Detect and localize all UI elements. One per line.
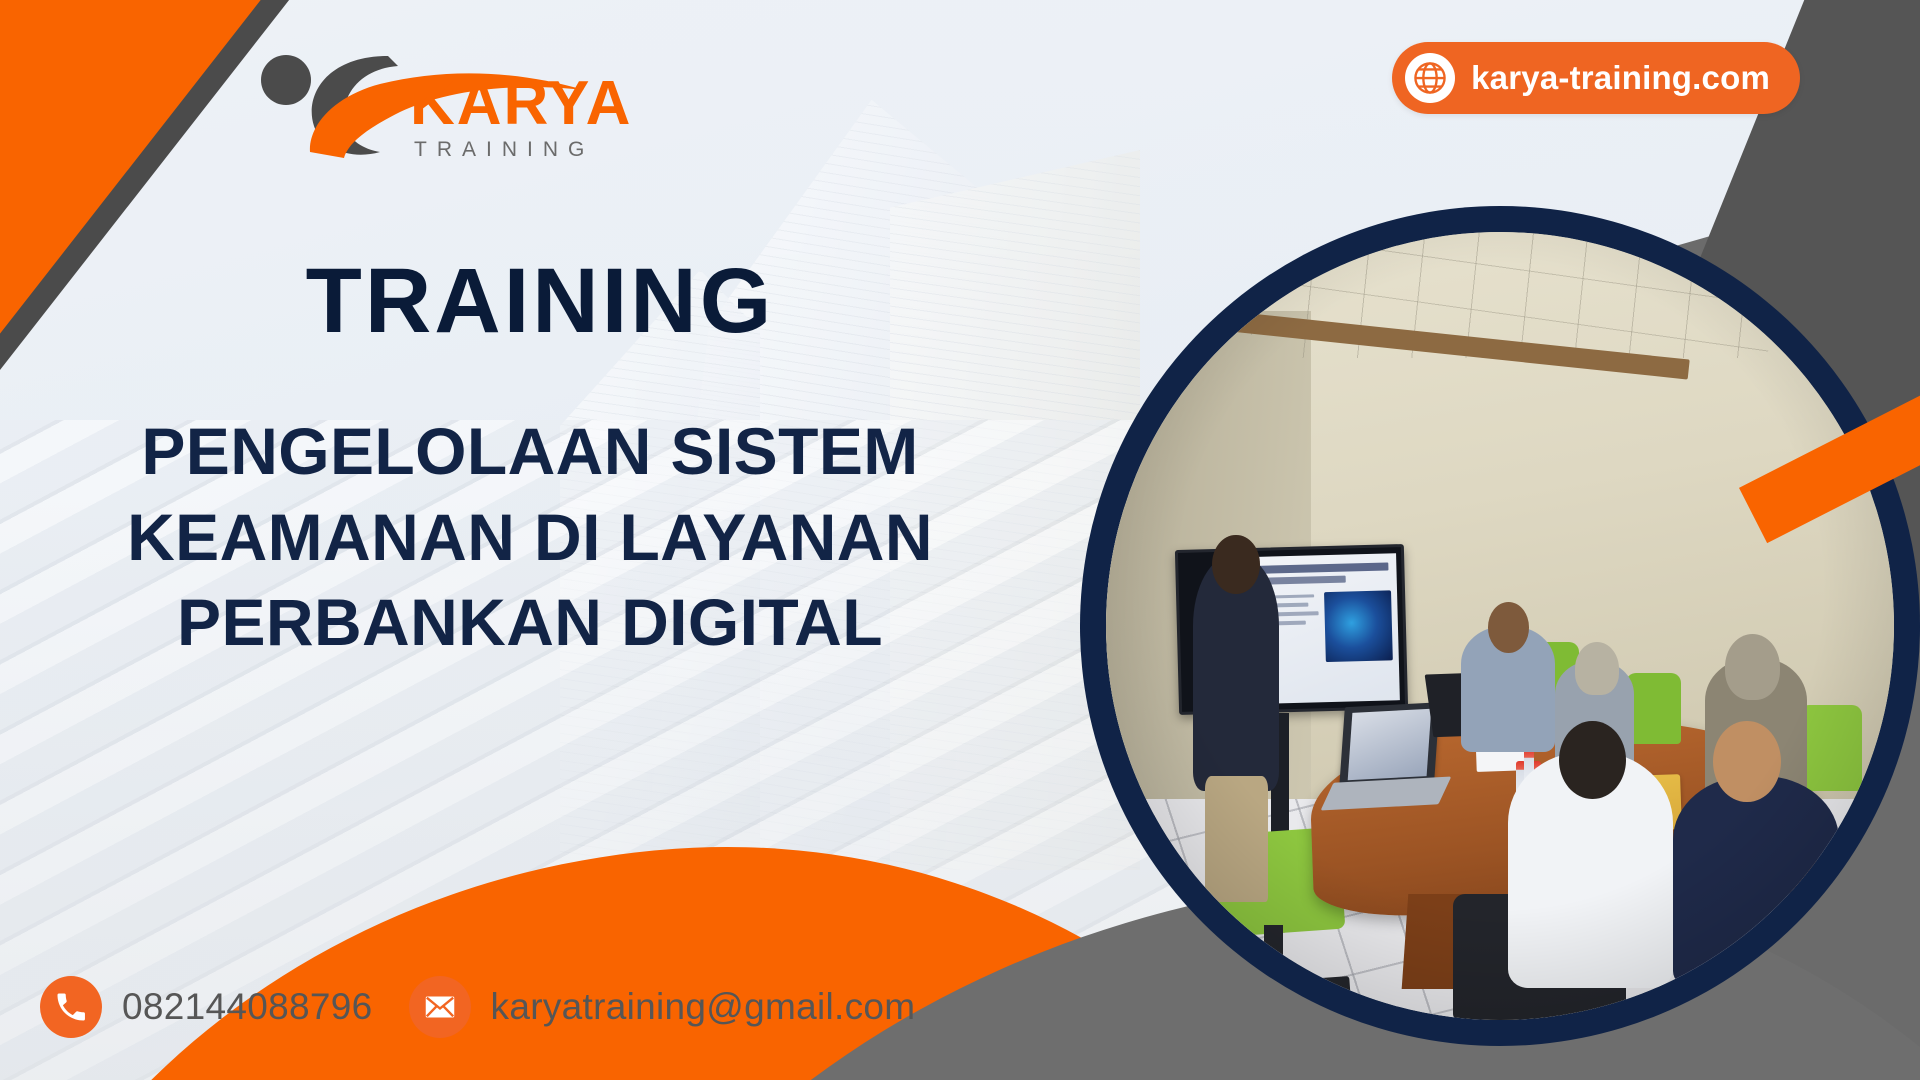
- contact-email[interactable]: karyatraining@gmail.com: [409, 976, 916, 1038]
- page-title-kicker: TRAINING: [0, 255, 1060, 349]
- poster-canvas: KARYA TRAINING karya-training.com TRAINI…: [0, 0, 1920, 1080]
- phone-icon: [40, 976, 102, 1038]
- mail-icon: [409, 976, 471, 1038]
- subtitle-line-3: PERBANKAN DIGITAL: [40, 580, 1020, 666]
- training-session-photo: [1106, 232, 1894, 1020]
- website-badge[interactable]: karya-training.com: [1392, 42, 1800, 114]
- meeting-room-scene: [1106, 232, 1894, 1020]
- logo-subwordmark: TRAINING: [414, 138, 594, 161]
- contact-bar: 082144088796 karyatraining@gmail.com: [40, 976, 915, 1038]
- logo-wordmark: KARYA: [410, 69, 632, 138]
- karya-training-logo[interactable]: KARYA TRAINING: [248, 40, 668, 170]
- subtitle-line-2: KEAMANAN DI LAYANAN: [40, 495, 1020, 581]
- email-address-text: karyatraining@gmail.com: [491, 986, 916, 1028]
- title-block: TRAINING PENGELOLAAN SISTEM KEAMANAN DI …: [0, 255, 1060, 666]
- page-subtitle: PENGELOLAAN SISTEM KEAMANAN DI LAYANAN P…: [0, 409, 1060, 666]
- circular-photo-frame: [1080, 206, 1920, 1046]
- logo-dot-icon: [261, 55, 311, 105]
- subtitle-line-1: PENGELOLAAN SISTEM: [40, 409, 1020, 495]
- phone-number-text: 082144088796: [122, 986, 373, 1028]
- website-url-text: karya-training.com: [1471, 59, 1770, 97]
- globe-icon: [1405, 53, 1455, 103]
- contact-phone[interactable]: 082144088796: [40, 976, 373, 1038]
